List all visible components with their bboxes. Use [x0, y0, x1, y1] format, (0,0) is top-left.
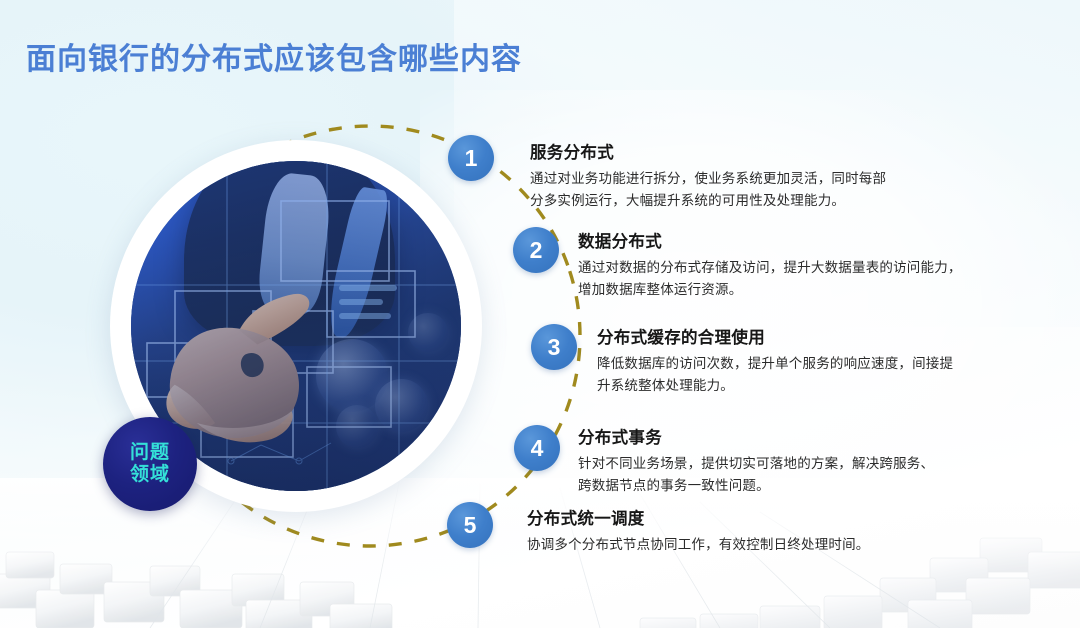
item-heading-2: 数据分布式	[578, 228, 962, 252]
page-title: 面向银行的分布式应该包含哪些内容	[26, 34, 522, 78]
item-number-badge-3: 3	[531, 324, 577, 370]
item-heading-4: 分布式事务	[578, 424, 934, 448]
item-text-5: 分布式统一调度 协调多个分布式节点协同工作，有效控制日终处理时间。	[527, 505, 870, 556]
problem-domain-label-line2: 领域	[130, 464, 170, 486]
item-text-4: 分布式事务 针对不同业务场景，提供切实可落地的方案，解决跨服务、 跨数据节点的事…	[578, 424, 934, 497]
item-body-line-5-1: 协调多个分布式节点协同工作，有效控制日终处理时间。	[527, 534, 870, 556]
item-body-line-1-1: 通过对业务功能进行拆分，使业务系统更加灵活，同时每部	[530, 168, 886, 190]
item-heading-3: 分布式缓存的合理使用	[597, 324, 953, 348]
item-heading-1: 服务分布式	[530, 139, 886, 163]
item-number-badge-4: 4	[514, 425, 560, 471]
item-number-badge-1: 1	[448, 135, 494, 181]
item-body-line-2-2: 增加数据库整体运行资源。	[578, 279, 962, 301]
item-number-badge-2: 2	[513, 227, 559, 273]
item-body-line-2-1: 通过对数据的分布式存储及访问，提升大数据量表的访问能力，	[578, 257, 962, 279]
slide-root: 面向银行的分布式应该包含哪些内容	[0, 0, 1080, 628]
item-text-2: 数据分布式 通过对数据的分布式存储及访问，提升大数据量表的访问能力， 增加数据库…	[578, 228, 962, 301]
item-body-line-4-2: 跨数据节点的事务一致性问题。	[578, 475, 934, 497]
item-body-line-3-2: 升系统整体处理能力。	[597, 375, 953, 397]
item-number-badge-5: 5	[447, 502, 493, 548]
item-text-3: 分布式缓存的合理使用 降低数据库的访问次数，提升单个服务的响应速度，间接提 升系…	[597, 324, 953, 397]
problem-domain-badge: 问题 领域	[103, 417, 197, 511]
item-body-line-4-1: 针对不同业务场景，提供切实可落地的方案，解决跨服务、	[578, 453, 934, 475]
item-body-line-3-1: 降低数据库的访问次数，提升单个服务的响应速度，间接提	[597, 353, 953, 375]
item-heading-5: 分布式统一调度	[527, 505, 870, 529]
item-text-1: 服务分布式 通过对业务功能进行拆分，使业务系统更加灵活，同时每部 分多实例运行，…	[530, 139, 886, 212]
item-body-line-1-2: 分多实例运行，大幅提升系统的可用性及处理能力。	[530, 190, 886, 212]
problem-domain-label-line1: 问题	[130, 442, 170, 464]
